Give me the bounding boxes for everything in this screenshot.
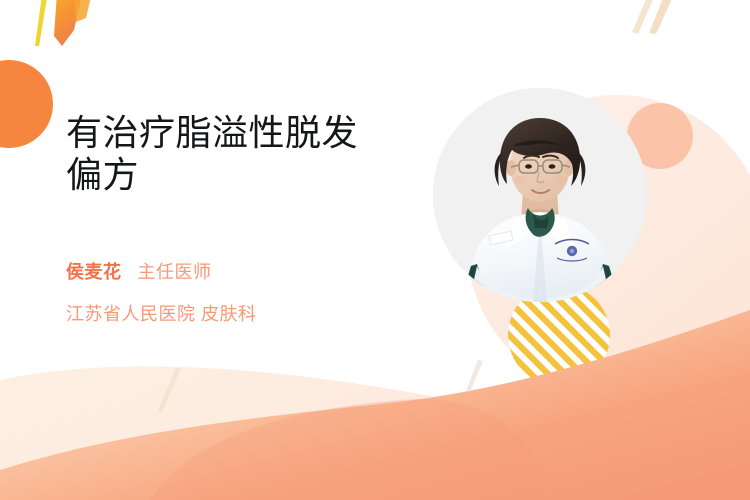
doctor-line: 侯麦花 主任医师 (66, 258, 426, 286)
eye-left (525, 164, 532, 168)
streak-group-top-right (632, 0, 678, 34)
doctor-portrait (433, 88, 647, 302)
doctor-organization: 江苏省人民医院 皮肤科 (66, 300, 426, 328)
coat-button-3 (538, 291, 543, 296)
doctor-portrait-illustration (433, 88, 647, 302)
byline-block: 侯麦花 主任医师 江苏省人民医院 皮肤科 (66, 258, 426, 328)
page-title: 有治疗脂溢性脱发 偏方 (66, 112, 426, 196)
streak-faint-bottom-center (466, 360, 483, 392)
streak-yellow-thin (35, 0, 50, 46)
cheek-left (514, 176, 526, 184)
ear-left (506, 160, 516, 176)
coat-button-2 (538, 268, 543, 273)
doctor-title: 主任医师 (138, 258, 212, 286)
streak-group-top-left (35, 0, 96, 46)
eye-right (549, 164, 556, 168)
slide-canvas: 有治疗脂溢性脱发 偏方 侯麦花 主任医师 江苏省人民医院 皮肤科 (0, 0, 750, 500)
circle-orange-left (0, 60, 53, 148)
doctor-name: 侯麦花 (66, 258, 122, 286)
streak-cream-b (649, 0, 678, 34)
coat-button-1 (538, 244, 543, 249)
cheek-right (554, 176, 566, 184)
text-content-block: 有治疗脂溢性脱发 偏方 侯麦花 主任医师 江苏省人民医院 皮肤科 (66, 112, 426, 328)
